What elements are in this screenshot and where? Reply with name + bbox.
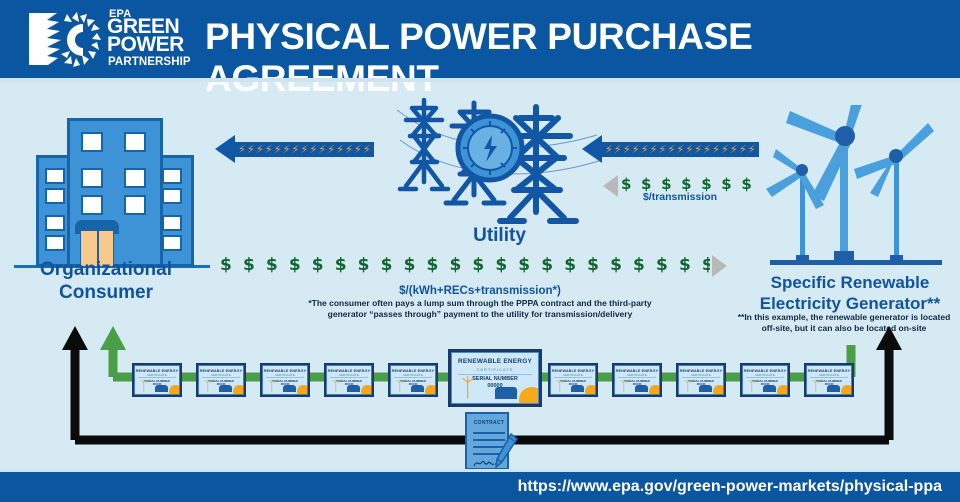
- rec-certificate-small: RENEWABLE ENERGY CERTIFICATE SERIAL NUMB…: [740, 363, 790, 397]
- cert-turbine-icon: [747, 379, 757, 393]
- cert-emblem: [495, 387, 517, 399]
- building-window: [45, 235, 65, 251]
- logo-power-text: POWER: [107, 35, 184, 54]
- transmission-money-label: $/transmission: [600, 191, 760, 203]
- building-window: [162, 235, 182, 251]
- generator-label: Specific Renewable Electricity Generator…: [740, 272, 960, 314]
- contract-arrow-head-right: [876, 326, 902, 350]
- ppa-money-label: $/(kWh+RECs+transmission*): [230, 285, 730, 297]
- cert-title-line1: RENEWABLE ENERGY: [452, 358, 538, 365]
- cert-turbine-icon: [555, 379, 565, 393]
- cert-title-line1: RENEWABLE ENERGY: [551, 369, 595, 373]
- rec-certificate-small: RENEWABLE ENERGY CERTIFICATE SERIAL NUMB…: [612, 363, 662, 397]
- rec-certificate-small: RENEWABLE ENERGY CERTIFICATE SERIAL NUMB…: [548, 363, 598, 397]
- rec-certificate-small: RENEWABLE ENERGY CERTIFICATE SERIAL NUMB…: [196, 363, 246, 397]
- ppa-footnote-line1: *The consumer often pays a lump sum thro…: [308, 298, 651, 308]
- rec-certificate-small: RENEWABLE ENERGY CERTIFICATE SERIAL NUMB…: [676, 363, 726, 397]
- cert-seal-icon: [713, 385, 724, 395]
- cert-seal-icon: [297, 385, 308, 395]
- generator-label-line2: Electricity Generator: [760, 294, 927, 313]
- ppa-money-footnote: *The consumer often pays a lump sum thro…: [230, 298, 730, 320]
- cert-emblem: [763, 385, 776, 392]
- cert-turbine-icon: [395, 379, 405, 393]
- building-window: [45, 188, 65, 204]
- epa-sunburst-mark-icon: [27, 10, 113, 70]
- electricity-arrow-head-right: [582, 135, 602, 163]
- ppa-money-arrow-head: [712, 255, 727, 277]
- page-footer: https://www.epa.gov/green-power-markets/…: [0, 472, 960, 502]
- cert-turbine-icon: [331, 379, 341, 393]
- rec-certificate-small: RENEWABLE ENERGY CERTIFICATE SERIAL NUMB…: [324, 363, 374, 397]
- cert-emblem: [699, 385, 712, 392]
- consumer-label-line2: Consumer: [59, 282, 153, 303]
- cert-title-line1: RENEWABLE ENERGY: [199, 369, 243, 373]
- generator-label-marker: **: [927, 294, 940, 313]
- building-window: [45, 215, 65, 231]
- cert-emblem: [411, 385, 424, 392]
- pen-icon: [493, 432, 519, 472]
- ppa-footnote-line2: generator “passes through” payment to th…: [328, 309, 633, 319]
- building-window: [162, 188, 182, 204]
- cert-title-line1: RENEWABLE ENERGY: [743, 369, 787, 373]
- cert-title-line1: RENEWABLE ENERGY: [327, 369, 371, 373]
- contract-document-icon: CONTRACT: [465, 412, 515, 474]
- cert-turbine-icon: [267, 379, 277, 393]
- cert-title-line1: RENEWABLE ENERGY: [615, 369, 659, 373]
- rec-certificate-small: RENEWABLE ENERGY CERTIFICATE SERIAL NUMB…: [804, 363, 854, 397]
- page-header: EPA GREEN POWER PARTNERSHIP PHYSICAL POW…: [0, 0, 960, 78]
- rec-certificate-small: RENEWABLE ENERGY CERTIFICATE SERIAL NUMB…: [260, 363, 310, 397]
- cert-emblem: [155, 385, 168, 392]
- cert-emblem: [347, 385, 360, 392]
- electricity-bolts-left: ⚡⚡⚡⚡⚡⚡⚡⚡⚡⚡⚡⚡⚡⚡⚡⚡⚡⚡⚡⚡⚡⚡: [238, 142, 372, 157]
- cert-seal-icon: [233, 385, 244, 395]
- cert-emblem: [571, 385, 584, 392]
- cert-seal-icon: [425, 385, 436, 395]
- building-window: [81, 195, 103, 215]
- organizational-consumer-label: Organizational Consumer: [0, 258, 212, 304]
- cert-title-line1: RENEWABLE ENERGY: [263, 369, 307, 373]
- ppa-money-symbols: $ $ $ $ $ $ $ $ $ $ $ $ $ $ $ $ $ $ $ $ …: [220, 255, 710, 276]
- cert-turbine-icon: [139, 379, 149, 393]
- rec-arrow-head-left: [100, 326, 126, 350]
- building-window: [124, 168, 146, 188]
- infographic-canvas: EPA GREEN POWER PARTNERSHIP PHYSICAL POW…: [0, 0, 960, 502]
- building-window: [81, 168, 103, 188]
- cert-title-line1: RENEWABLE ENERGY: [391, 369, 435, 373]
- cert-emblem: [283, 385, 296, 392]
- wind-turbines-icon: [752, 105, 952, 267]
- logo-partnership-text: PARTNERSHIP: [108, 56, 191, 68]
- cert-title-line2: CERTIFICATE: [452, 367, 538, 372]
- header-divider: [0, 78, 960, 82]
- cert-seal-icon: [841, 385, 852, 395]
- building-window: [81, 132, 103, 152]
- cert-turbine-icon: [203, 379, 213, 393]
- cert-seal-icon: [519, 387, 539, 404]
- cert-seal-icon: [585, 385, 596, 395]
- cert-turbine-icon: [811, 379, 821, 393]
- cert-seal-icon: [361, 385, 372, 395]
- generator-label-line1: Specific Renewable: [771, 273, 930, 292]
- contract-title: CONTRACT: [467, 420, 511, 426]
- building-window: [124, 195, 146, 215]
- building-window: [162, 168, 182, 184]
- cert-title-line1: RENEWABLE ENERGY: [135, 369, 179, 373]
- organizational-consumer-building-icon: [14, 108, 214, 278]
- cert-turbine-icon: [459, 375, 476, 400]
- cert-emblem: [219, 385, 232, 392]
- consumer-label-line1: Organizational: [40, 259, 172, 280]
- rec-certificate-small: RENEWABLE ENERGY CERTIFICATE SERIAL NUMB…: [388, 363, 438, 397]
- building-window: [162, 215, 182, 231]
- rec-certificate-small: RENEWABLE ENERGY CERTIFICATE SERIAL NUMB…: [132, 363, 182, 397]
- cert-emblem: [827, 385, 840, 392]
- cert-emblem: [635, 385, 648, 392]
- cert-turbine-icon: [619, 379, 629, 393]
- building-window: [45, 168, 65, 184]
- page-title: PHYSICAL POWER PURCHASE AGREEMENT: [205, 16, 945, 100]
- cert-title-line1: RENEWABLE ENERGY: [679, 369, 723, 373]
- cert-title-line1: RENEWABLE ENERGY: [807, 369, 851, 373]
- building-window: [124, 132, 146, 152]
- cert-seal-icon: [777, 385, 788, 395]
- cert-seal-icon: [649, 385, 660, 395]
- electricity-bolts-right: ⚡⚡⚡⚡⚡⚡⚡⚡⚡⚡⚡⚡⚡⚡⚡⚡⚡⚡⚡⚡⚡⚡⚡⚡⚡: [605, 142, 757, 157]
- utility-towers-icon: [392, 90, 607, 245]
- contract-arrow-head-left: [62, 326, 88, 350]
- electricity-arrow-head-left: [215, 135, 235, 163]
- epa-physical-ppa-link[interactable]: https://www.epa.gov/green-power-markets/…: [518, 478, 942, 496]
- utility-label: Utility: [392, 225, 607, 247]
- cert-seal-icon: [169, 385, 180, 395]
- epa-green-power-partnership-logo: EPA GREEN POWER PARTNERSHIP: [27, 6, 195, 72]
- rec-certificate-large: RENEWABLE ENERGY CERTIFICATE SERIAL NUMB…: [448, 349, 542, 407]
- cert-turbine-icon: [683, 379, 693, 393]
